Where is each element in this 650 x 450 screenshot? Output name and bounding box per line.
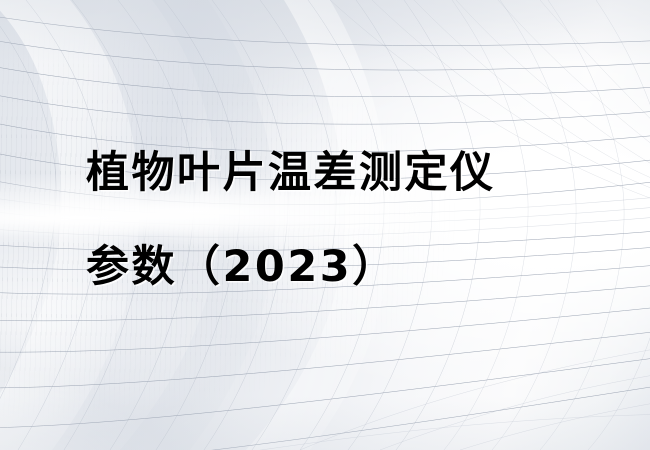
- slide-title: 植物叶片温差测定仪 参数（2023）: [86, 126, 606, 314]
- title-slide: 植物叶片温差测定仪 参数（2023）: [0, 0, 650, 450]
- title-line-2: 参数（2023）: [86, 220, 606, 314]
- title-line-1: 植物叶片温差测定仪: [86, 126, 606, 220]
